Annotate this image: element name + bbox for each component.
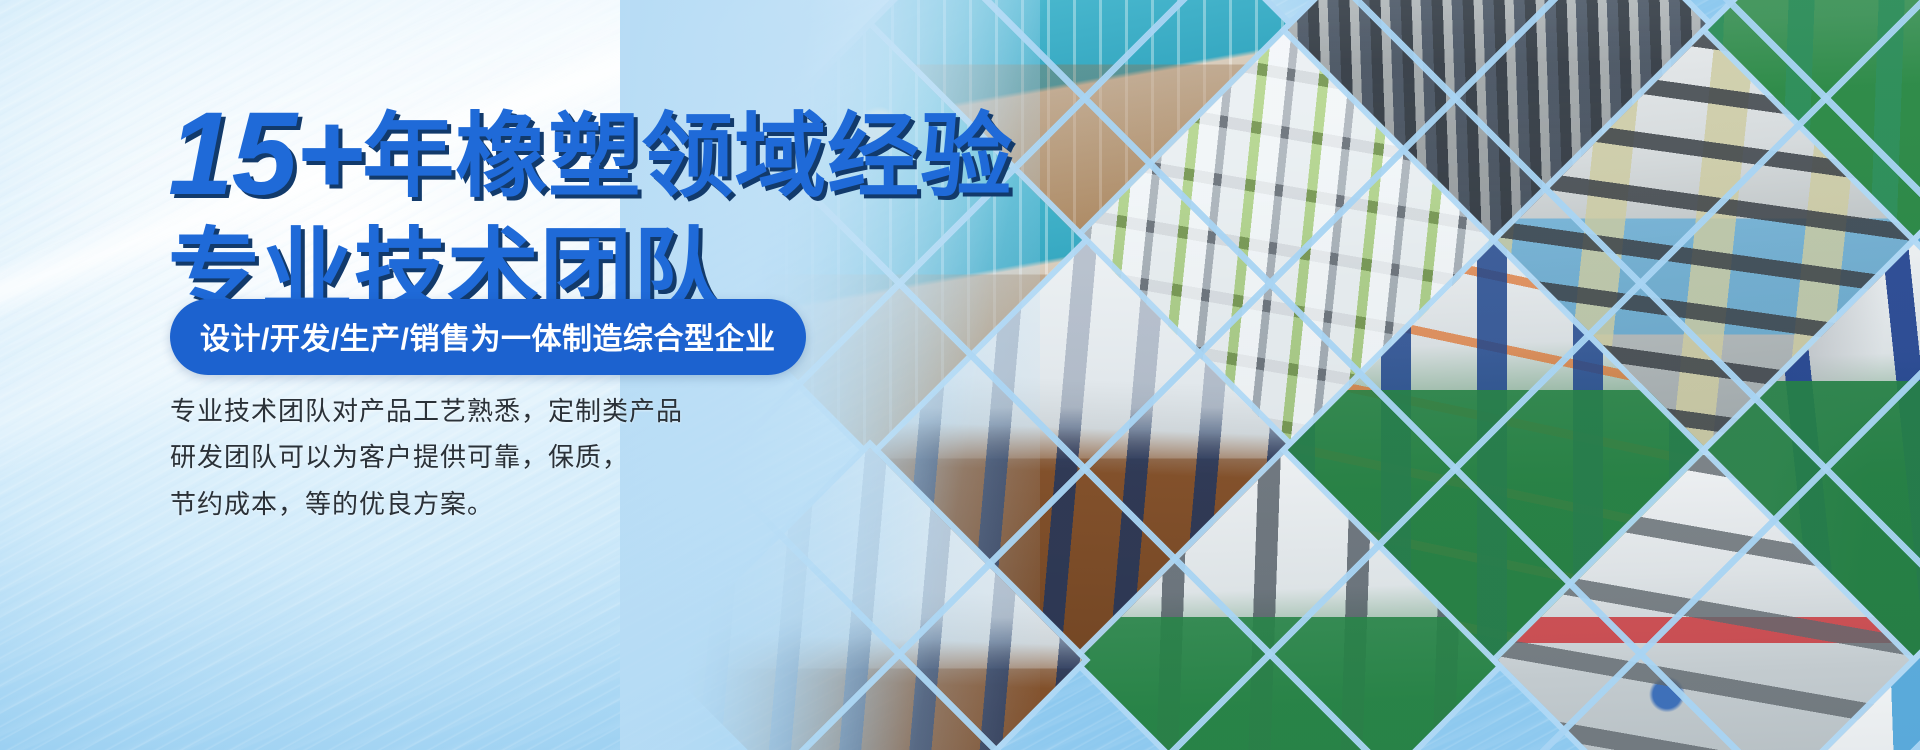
collage-photo-cnc-operator (1498, 448, 1920, 750)
description-line-2: 研发团队可以为客户提供可靠，保质， (170, 434, 683, 480)
collage-photo-assembly-line (1288, 238, 1712, 662)
collage-photo-injection-press (1498, 28, 1920, 452)
banner-content: 15+年橡塑领域经验 专业技术团队 设计/开发/生产/销售为一体制造综合型企业 … (0, 0, 820, 750)
headline: 15+年橡塑领域经验 专业技术团队 (168, 96, 1013, 318)
collage-photo-extruder-line (1708, 238, 1920, 662)
collage-photo-inspection-station (1708, 0, 1920, 242)
headline-suffix: 年橡塑领域经验 (362, 106, 1013, 208)
promotional-banner: 15+年橡塑领域经验 专业技术团队 设计/开发/生产/销售为一体制造综合型企业 … (0, 0, 1920, 750)
headline-number: 15 (168, 88, 295, 220)
collage-photo-recruitment-queue (1288, 0, 1712, 242)
headline-plus-sign: + (295, 88, 362, 220)
collage-photo-bench-work (1708, 658, 1920, 750)
description-line-3: 节约成本，等的优良方案。 (170, 481, 683, 527)
headline-line-1: 15+年橡塑领域经验 (168, 96, 1013, 213)
collage-photo-open-plan-office (1078, 28, 1502, 452)
tagline-badge: 设计/开发/生产/销售为一体制造综合型企业 (170, 299, 806, 375)
description-paragraph: 专业技术团队对产品工艺熟悉，定制类产品 研发团队可以为客户提供可靠，保质， 节约… (170, 388, 683, 527)
description-line-1: 专业技术团队对产品工艺熟悉，定制类产品 (170, 388, 683, 434)
collage-photo-warehouse-floor (1078, 448, 1502, 750)
